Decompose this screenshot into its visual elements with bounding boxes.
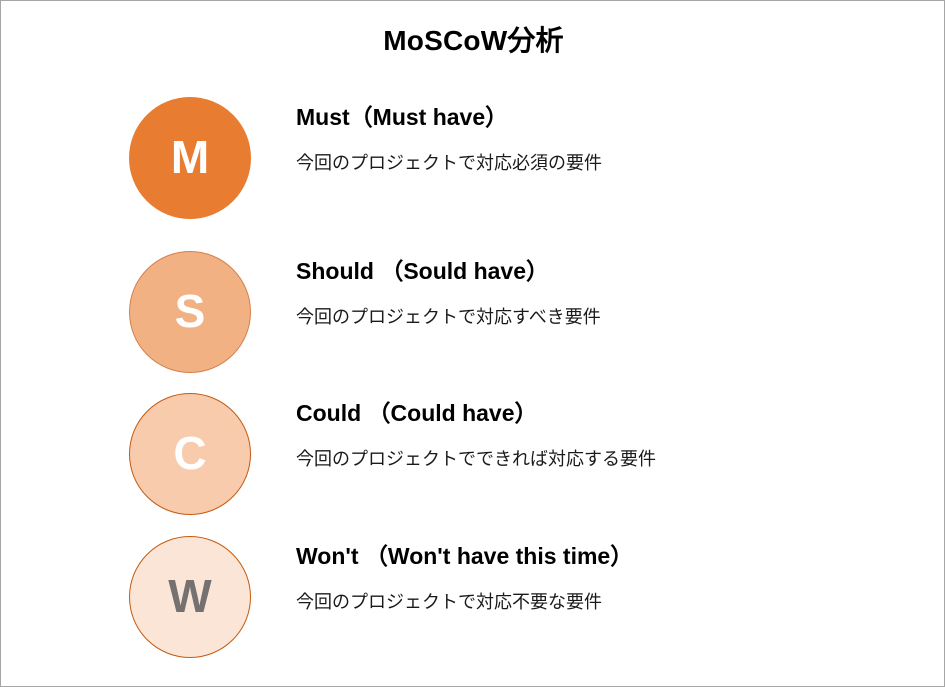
text-column-must: Must（Must have） 今回のプロジェクトで対応必須の要件	[296, 93, 916, 175]
moscow-row-should: S Should （Sould have） 今回のプロジェクトで対応すべき要件	[1, 247, 945, 377]
badge-letter-must: M	[171, 134, 209, 180]
badge-letter-wont: W	[168, 573, 211, 619]
badge-circle-should: S	[129, 251, 251, 373]
row-heading-should: Should （Sould have）	[296, 247, 916, 286]
row-heading-could: Could （Could have）	[296, 389, 916, 428]
row-description-wont: 今回のプロジェクトで対応不要な要件	[296, 571, 916, 614]
row-description-should: 今回のプロジェクトで対応すべき要件	[296, 286, 916, 329]
text-column-should: Should （Sould have） 今回のプロジェクトで対応すべき要件	[296, 247, 916, 329]
badge-circle-wont: W	[129, 536, 251, 658]
moscow-row-must: M Must（Must have） 今回のプロジェクトで対応必須の要件	[1, 93, 945, 223]
text-column-could: Could （Could have） 今回のプロジェクトでできれば対応する要件	[296, 389, 916, 471]
moscow-category-list: M Must（Must have） 今回のプロジェクトで対応必須の要件 S Sh…	[1, 1, 945, 687]
row-description-could: 今回のプロジェクトでできれば対応する要件	[296, 428, 916, 471]
moscow-row-wont: W Won't （Won't have this time） 今回のプロジェクト…	[1, 532, 945, 662]
moscow-analysis-slide: MoSCoW分析 M Must（Must have） 今回のプロジェクトで対応必…	[0, 0, 945, 687]
row-heading-must: Must（Must have）	[296, 93, 916, 132]
badge-circle-must: M	[129, 97, 251, 219]
text-column-wont: Won't （Won't have this time） 今回のプロジェクトで対…	[296, 532, 916, 614]
badge-letter-could: C	[173, 430, 206, 476]
row-description-must: 今回のプロジェクトで対応必須の要件	[296, 132, 916, 175]
badge-letter-should: S	[175, 288, 206, 334]
moscow-row-could: C Could （Could have） 今回のプロジェクトでできれば対応する要…	[1, 389, 945, 519]
badge-circle-could: C	[129, 393, 251, 515]
row-heading-wont: Won't （Won't have this time）	[296, 532, 916, 571]
